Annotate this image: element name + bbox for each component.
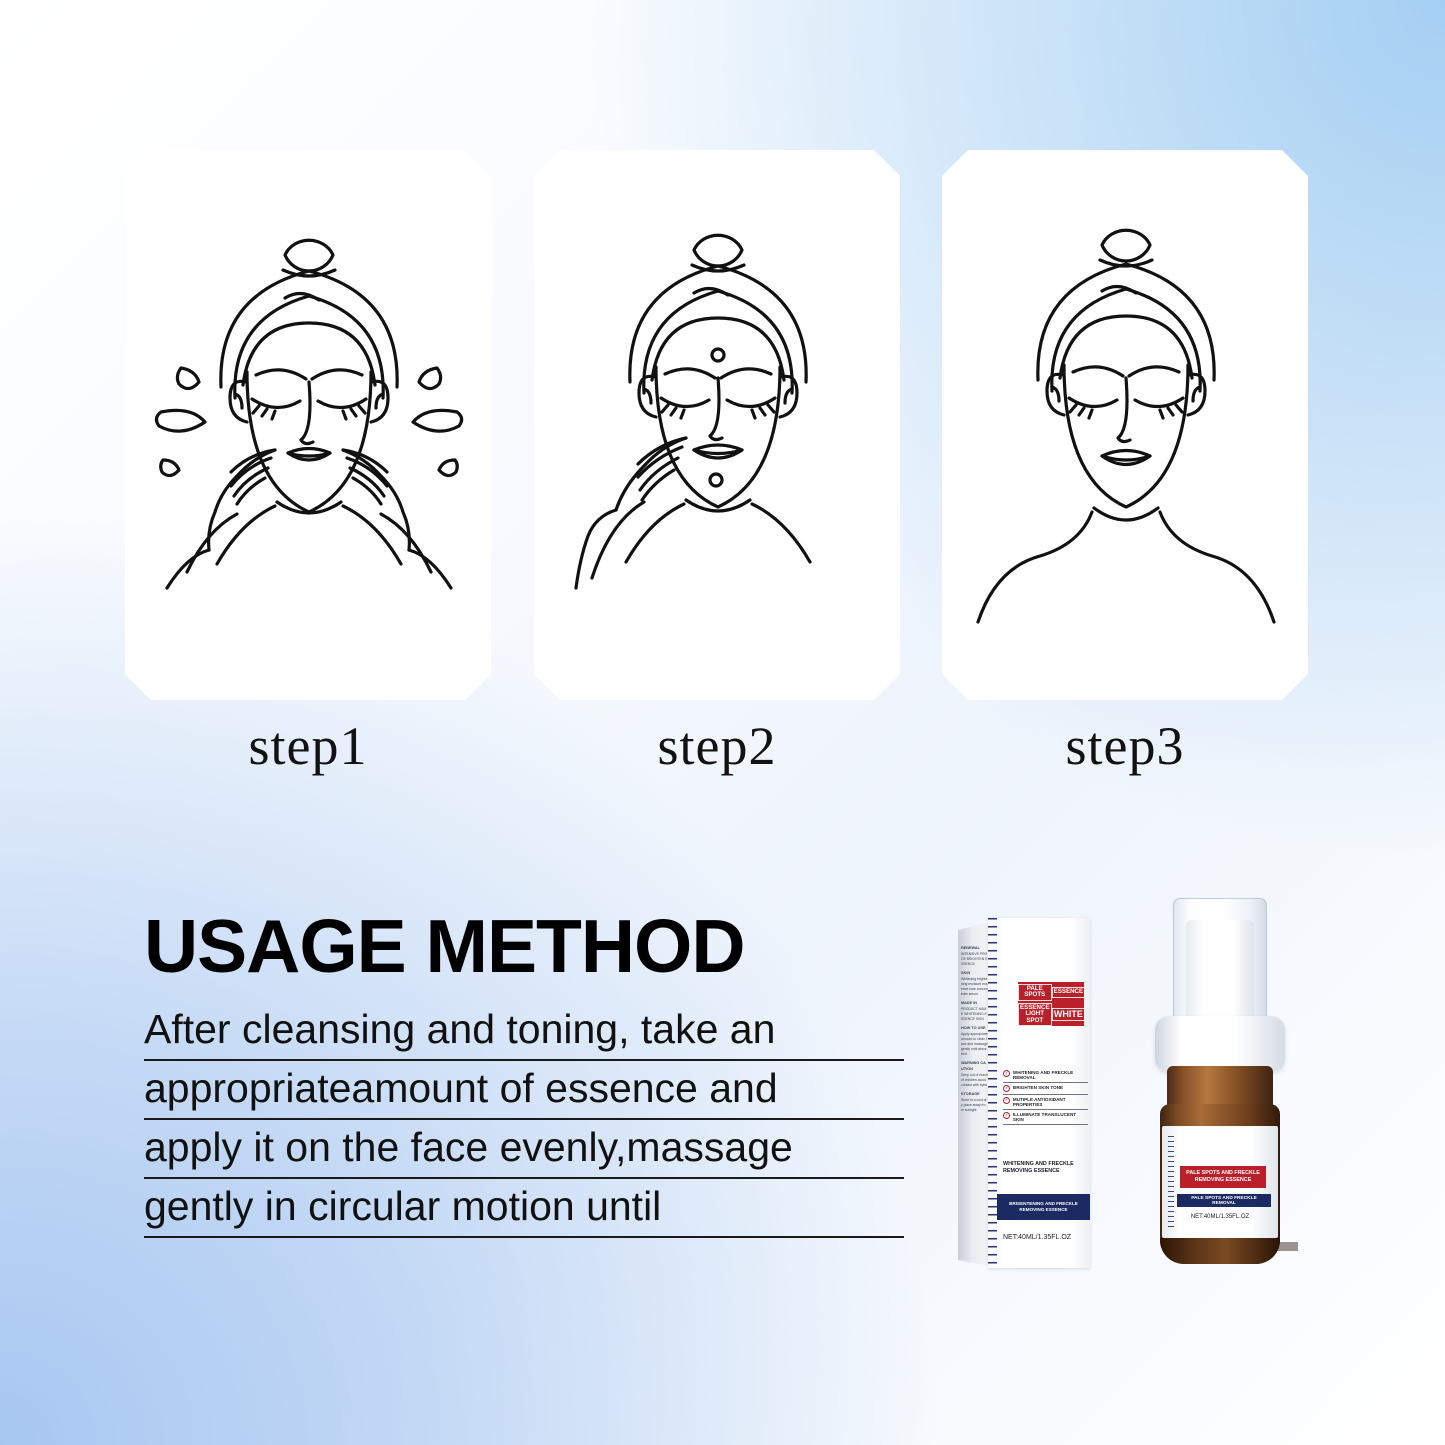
usage-method-block: USAGE METHOD After cleansing and toning,… <box>144 910 904 1238</box>
check-icon: ✓ <box>1003 1085 1010 1092</box>
bottle-red-band: PALE SPOTS AND FRECKLE REMOVING ESSENCE <box>1180 1166 1266 1188</box>
carton-label-essence-light-spot: ESSENCE LIGHT SPOT <box>1018 1003 1052 1027</box>
carton-side-l2: Whitening brightening moisture essence c… <box>961 977 988 996</box>
carton-net-volume: NET:40ML/1.35FL.OZ <box>1003 1234 1071 1241</box>
step-card-1 <box>125 150 491 700</box>
bottle-net-volume: NET:40ML/1.35FL.OZ <box>1162 1214 1278 1220</box>
carton-feature-text: MUTIPLE ANTIOXIDANT PROPERTIES <box>1013 1097 1088 1108</box>
carton-label-essence: ESSENCE <box>1052 987 1086 998</box>
product-bottle: PALE SPOTS AND FRECKLE REMOVING ESSENCE … <box>1142 898 1298 1278</box>
step-label-2: step2 <box>522 715 912 777</box>
carton-side-l1: INTENSIVE PROCE BRIGHTEN ESSENCE <box>961 952 987 966</box>
carton-feature-text: ILLUMINATE TRANSLUCENT SKIN <box>1013 1112 1088 1123</box>
carton-feature-text: BRIGHTEN SKIN TONE <box>1013 1085 1063 1090</box>
usage-line-3: apply it on the face evenly,massage <box>144 1120 904 1179</box>
carton-feature-item: ✓ WHITENING AND FRECKLE REMOVAL <box>1003 1068 1088 1083</box>
usage-line-1: After cleansing and toning, take an <box>144 1002 904 1061</box>
carton-feature-list: ✓ WHITENING AND FRECKLE REMOVAL ✓ BRIGHT… <box>1003 1068 1088 1125</box>
step-card-3 <box>942 150 1308 700</box>
carton-subtitle: WHITENING AND FRECKLE REMOVING ESSENCE <box>1003 1161 1089 1175</box>
bottle-pump-head <box>1186 920 1254 1020</box>
step-label-3: step3 <box>930 715 1320 777</box>
usage-line-4: gently in circular motion until <box>144 1179 904 1238</box>
page-title: USAGE METHOD <box>144 910 904 984</box>
bottle-collar <box>1155 1016 1285 1072</box>
steps-row: step1 <box>0 150 1445 790</box>
carton-side-l4: Apply appropriate amount to clean face a… <box>961 1032 988 1056</box>
bottle-base <box>1160 1238 1280 1264</box>
carton-red-label: PALE SPOTS ESSENCE ESSENCE LIGHT SPOT WH… <box>1018 982 1084 1026</box>
carton-blue-band: BRISENTENING AND FRECKLE REMOVING ESSENC… <box>997 1194 1090 1220</box>
product-carton: RENEWAL INTENSIVE PROCE BRIGHTEN ESSENCE… <box>958 912 1090 1272</box>
carton-side-fineprint: RENEWAL INTENSIVE PROCE BRIGHTEN ESSENCE… <box>961 942 988 1113</box>
carton-label-pale-spots: PALE SPOTS <box>1018 984 1052 1001</box>
carton-feature-item: ✓ BRIGHTEN SKIN TONE <box>1003 1083 1088 1095</box>
bottle-label: PALE SPOTS AND FRECKLE REMOVING ESSENCE … <box>1162 1126 1278 1238</box>
check-icon: ✓ <box>1003 1097 1010 1104</box>
carton-feature-text: WHITENING AND FRECKLE REMOVAL <box>1013 1070 1088 1081</box>
carton-side-l5: Keep out of reach of children avoid cont… <box>961 1073 988 1087</box>
carton-side-h5: WARNING CAUTION <box>961 1061 988 1072</box>
step-card-2 <box>534 150 900 700</box>
infographic-page: step1 <box>0 0 1445 1445</box>
carton-front-panel: PALE SPOTS ESSENCE ESSENCE LIGHT SPOT WH… <box>988 918 1090 1268</box>
carton-side-panel: RENEWAL INTENSIVE PROCE BRIGHTEN ESSENCE… <box>958 922 990 1266</box>
carton-side-l3: PRODUCT NAME WHITENING ESSENCE SKIN <box>961 1007 987 1021</box>
clean-face-illustration <box>942 150 1308 700</box>
check-icon: ✓ <box>1003 1112 1010 1119</box>
carton-ruler-strip <box>988 918 997 1268</box>
applying-essence-illustration <box>534 150 900 700</box>
step-column-2: step2 <box>522 150 912 790</box>
carton-feature-item: ✓ ILLUMINATE TRANSLUCENT SKIN <box>1003 1110 1088 1125</box>
washing-face-illustration <box>125 150 491 700</box>
bottle-blue-band: PALE SPOTS AND FRECKLE REMOVAL <box>1177 1194 1271 1207</box>
step-column-3: step3 <box>930 150 1320 790</box>
step-column-1: step1 <box>113 150 503 790</box>
usage-description: After cleansing and toning, take an appr… <box>144 1002 904 1238</box>
usage-line-2: appropriateamount of essence and <box>144 1061 904 1120</box>
carton-side-l6: Store in a cool dry place away from sunl… <box>961 1098 987 1112</box>
carton-label-white: WHITE <box>1052 1008 1086 1021</box>
carton-feature-item: ✓ MUTIPLE ANTIOXIDANT PROPERTIES <box>1003 1095 1088 1110</box>
step-label-1: step1 <box>113 715 503 777</box>
check-icon: ✓ <box>1003 1070 1010 1077</box>
